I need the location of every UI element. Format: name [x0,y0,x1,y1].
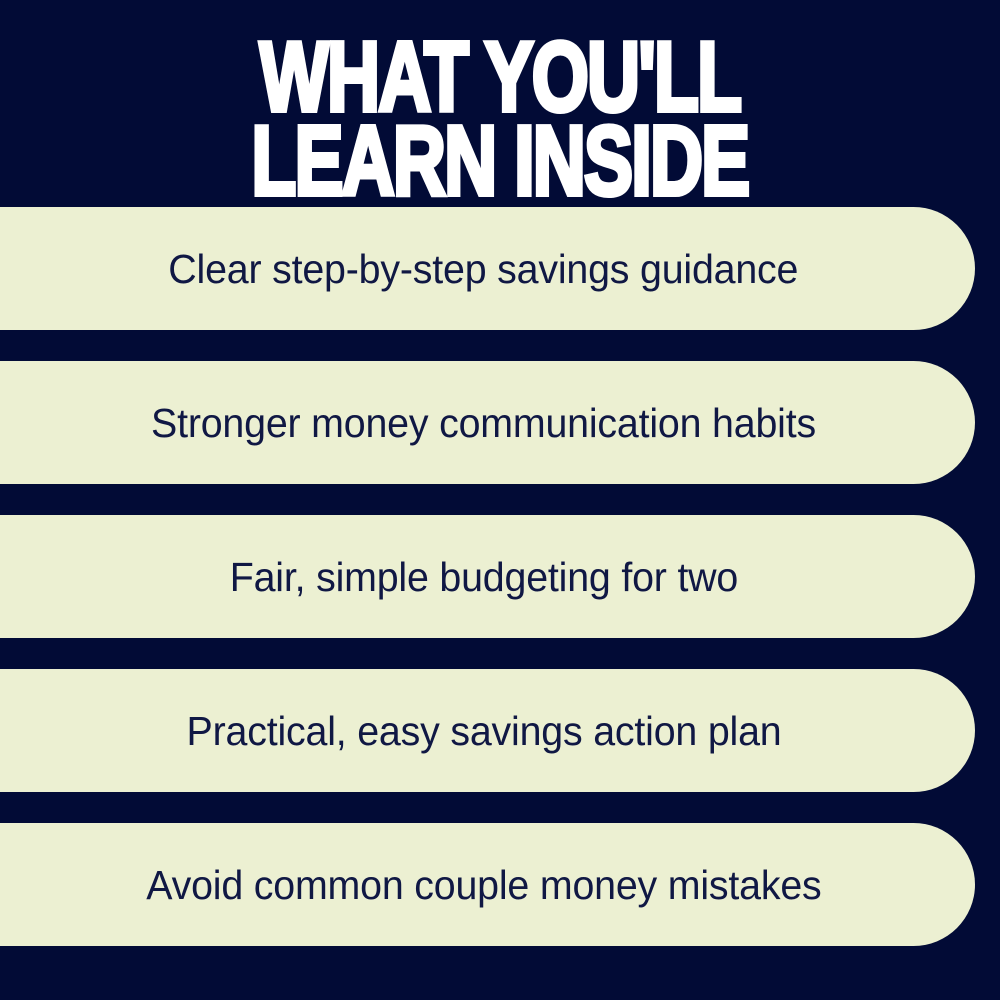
list-item: Practical, easy savings action plan [0,669,975,792]
poster-canvas: WHAT YOU'LL LEARN INSIDE Clear step-by-s… [0,0,1000,1000]
list-item-label: Fair, simple budgeting for two [229,553,745,601]
benefits-list: Clear step-by-step savings guidance Stro… [0,207,1000,946]
list-item-label: Practical, easy savings action plan [186,707,789,755]
list-item: Clear step-by-step savings guidance [0,207,975,330]
list-item: Stronger money communication habits [0,361,975,484]
list-item-label: Stronger money communication habits [151,399,824,447]
list-item-label: Clear step-by-step savings guidance [169,245,807,293]
list-item: Fair, simple budgeting for two [0,515,975,638]
page-title: WHAT YOU'LL LEARN INSIDE [0,38,1000,178]
page-title-line-2: LEARN INSIDE [0,122,1000,202]
list-item: Avoid common couple money mistakes [0,823,975,946]
list-item-label: Avoid common couple money mistakes [146,861,829,909]
